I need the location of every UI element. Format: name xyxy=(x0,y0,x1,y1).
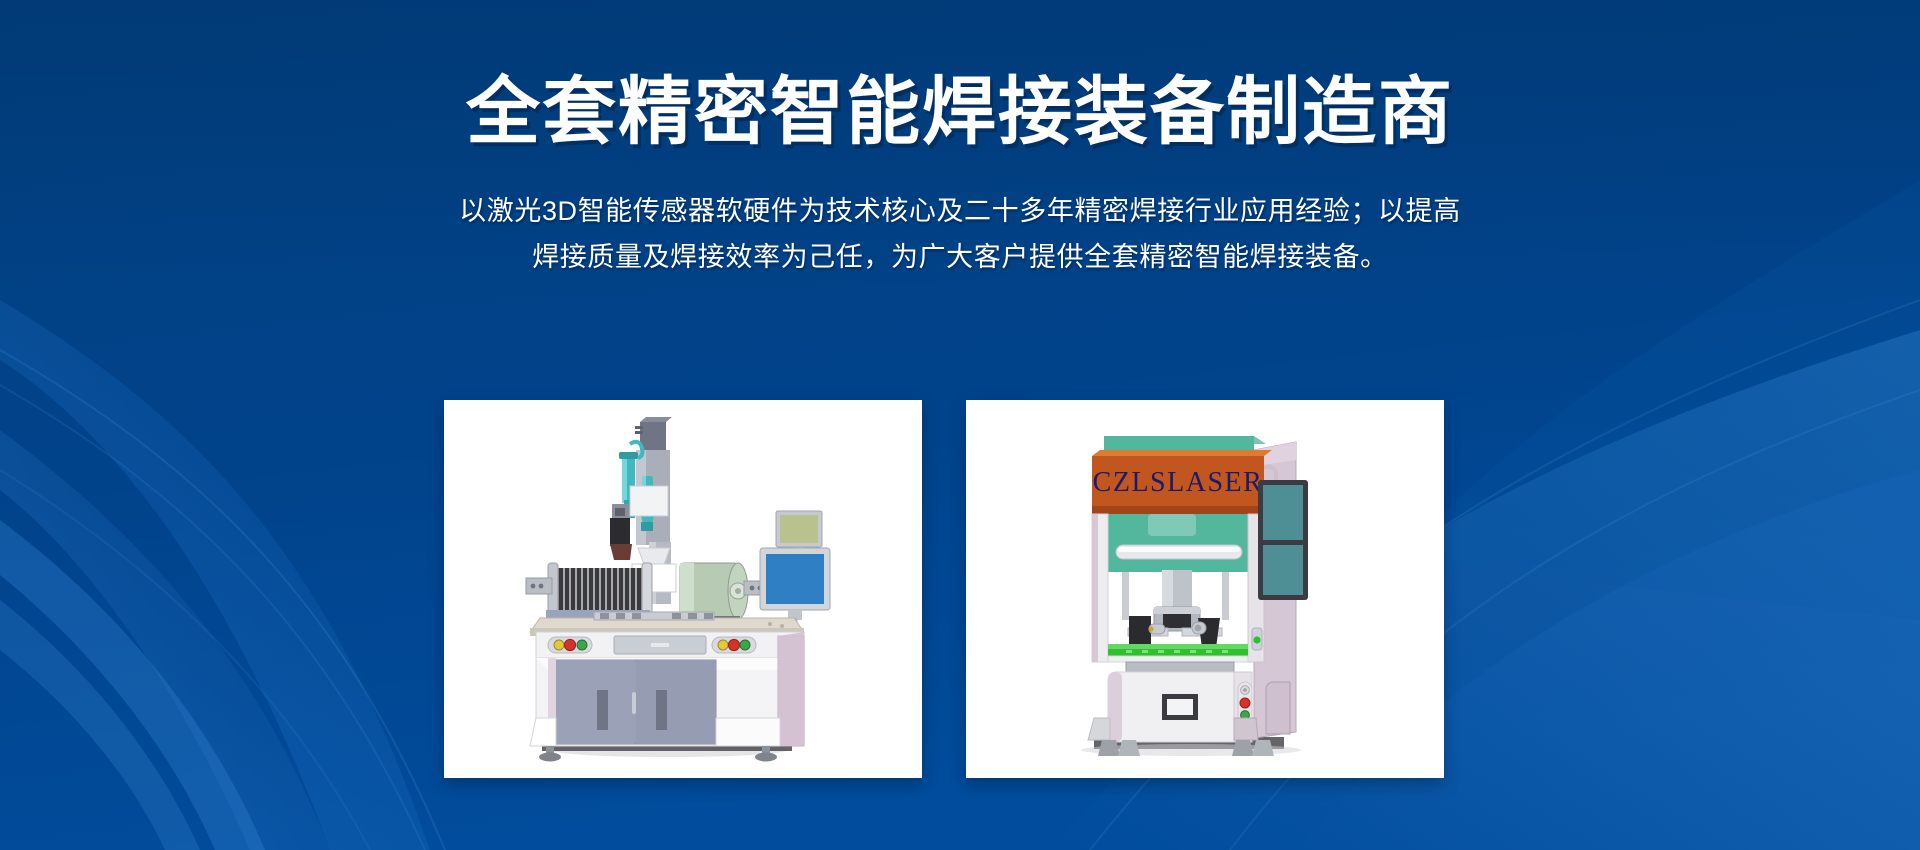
promo-banner: 全套精密智能焊接装备制造商 以激光3D智能传感器软硬件为技术核心及二十多年精密焊… xyxy=(0,0,1920,850)
product-card-precision-welding-workstation[interactable]: 精密智能焊接工作站 xyxy=(444,400,922,778)
czlslaser-cabinet-welder-illustration: CZLSLASER xyxy=(966,400,1444,778)
banner-text-block: 全套精密智能焊接装备制造商 以激光3D智能传感器软硬件为技术核心及二十多年精密焊… xyxy=(0,0,1920,281)
product-image-gallery: 精密智能焊接工作站 CZLSLASER xyxy=(444,400,1444,780)
subtitle-line-1: 以激光3D智能传感器软硬件为技术核心及二十多年精密焊接行业应用经验；以提高 xyxy=(0,188,1920,234)
precision-welding-workstation-illustration xyxy=(444,400,922,778)
page-subtitle: 以激光3D智能传感器软硬件为技术核心及二十多年精密焊接行业应用经验；以提高 焊接… xyxy=(0,188,1920,281)
product-card-czlslaser-cabinet-welder[interactable]: CZLSLASER xyxy=(966,400,1444,778)
subtitle-line-2: 焊接质量及焊接效率为己任，为广大客户提供全套精密智能焊接装备。 xyxy=(0,234,1920,280)
brand-label-czlslaser: CZLSLASER xyxy=(1093,467,1264,498)
page-title: 全套精密智能焊接装备制造商 xyxy=(0,72,1920,152)
